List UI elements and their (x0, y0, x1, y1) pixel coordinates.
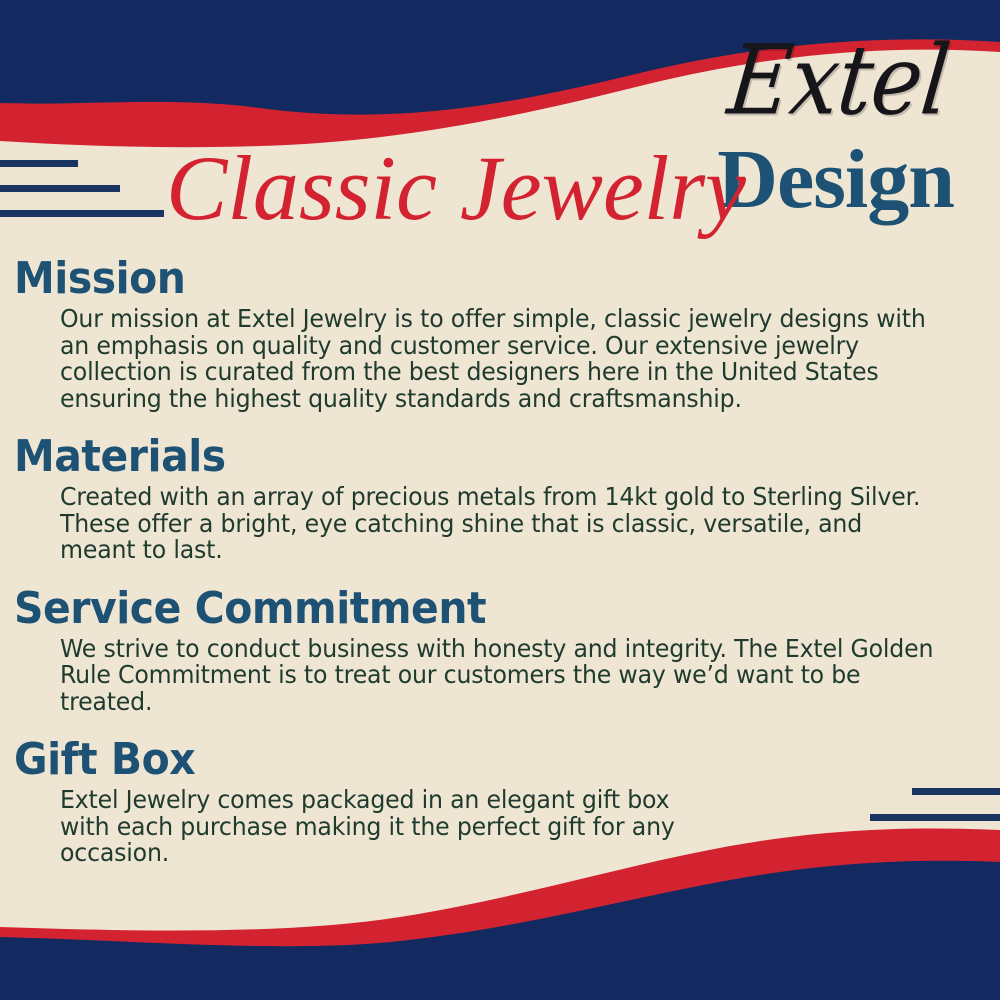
left-rule-short (0, 160, 78, 167)
poster-canvas: Extel Design Classic Jewelry Mission Our… (0, 0, 1000, 1000)
section-service-commitment: Service Commitment We strive to conduct … (0, 586, 1000, 716)
section-mission: Mission Our mission at Extel Jewelry is … (0, 256, 1000, 412)
bottom-navy-wave-shape (0, 861, 1000, 1000)
section-body-service-commitment: We strive to conduct business with hones… (60, 636, 940, 715)
section-heading-materials: Materials (14, 434, 931, 480)
section-materials: Materials Created with an array of preci… (0, 434, 1000, 564)
section-body-gift-box: Extel Jewelry comes packaged in an elega… (60, 787, 726, 866)
left-rule-long (0, 210, 164, 217)
section-body-mission: Our mission at Extel Jewelry is to offer… (60, 306, 940, 412)
section-heading-service-commitment: Service Commitment (14, 586, 931, 632)
brand-logo-design: Design (717, 138, 954, 222)
right-rule-short (912, 788, 1000, 795)
right-rule-long (828, 840, 1000, 847)
right-rule-medium (870, 814, 1000, 821)
right-rule-group (800, 788, 1000, 866)
section-body-materials: Created with an array of precious metals… (60, 484, 940, 563)
section-heading-gift-box: Gift Box (14, 737, 931, 783)
content-sections: Mission Our mission at Extel Jewelry is … (0, 256, 1000, 873)
brand-logo-extel: Extel (724, 33, 953, 129)
left-rule-group (0, 160, 230, 235)
left-rule-medium (0, 185, 120, 192)
page-title: Classic Jewelry (166, 142, 746, 234)
section-heading-mission: Mission (14, 256, 931, 302)
